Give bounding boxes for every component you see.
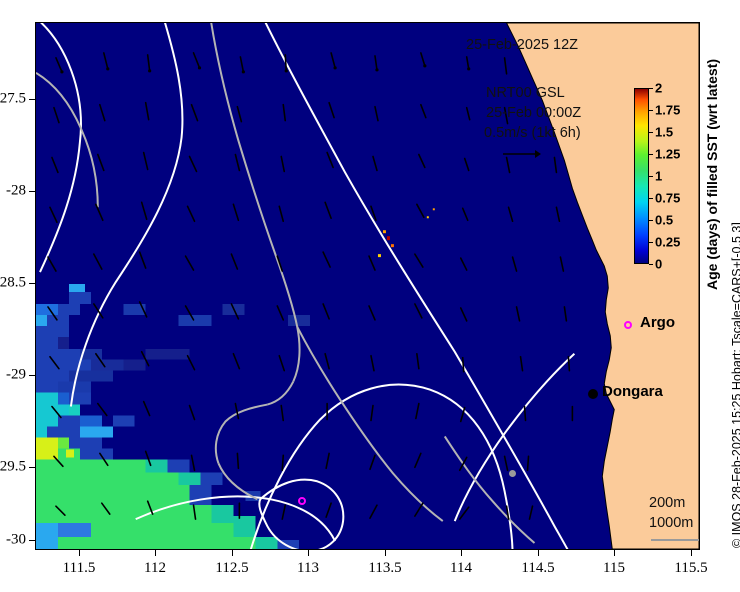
x-tick-label-7: 115 (603, 560, 625, 577)
x-tick-label-4: 113.5 (368, 560, 401, 577)
colorbar-label-7: 1.75 (655, 103, 680, 118)
x-tick-label-5: 114 (450, 560, 472, 577)
y-tick-label-5: -30 (0, 532, 26, 549)
y-tick-label-0: -27.5 (0, 91, 26, 108)
colorbar-label-1: 0.25 (655, 235, 680, 250)
x-tick-label-0: 111.5 (63, 560, 96, 577)
map-plot-area: 25-Feb-2025 12Z NRT00 GSL 25-Feb 00:00Z … (35, 22, 700, 550)
x-tick-label-1: 112 (144, 560, 166, 577)
colorbar-label-6: 1.5 (655, 125, 673, 140)
argo-legend-marker (624, 321, 632, 329)
depth-200m-label: 200m (649, 495, 685, 511)
velocity-reference-arrow (502, 147, 542, 161)
timestamp-label: 25-Feb-2025 12Z (466, 37, 578, 53)
colorbar-label-0: 0 (655, 257, 662, 272)
product-line-2: 0.5m/s (1kt 6h) (484, 125, 581, 141)
argo-float-marker (298, 497, 306, 505)
colorbar-label-3: 0.75 (655, 191, 680, 206)
colorbar-title: Age (days) of filled SST (wrt latest) (704, 59, 720, 290)
y-tick-label-2: -28.5 (0, 275, 26, 292)
depth-legend-rule (651, 539, 700, 541)
colorbar-label-4: 1 (655, 169, 662, 184)
argo-legend-label: Argo (640, 314, 675, 331)
x-tick-label-3: 113 (297, 560, 319, 577)
colorbar-gradient (634, 88, 649, 264)
y-tick-label-1: -28 (0, 183, 26, 200)
y-tick-label-4: -29.5 (0, 459, 26, 476)
dongara-city-marker (588, 389, 598, 399)
sst-age-raster (36, 23, 699, 549)
depth-1000m-label: 1000m (649, 515, 693, 531)
x-tick-label-6: 114.5 (521, 560, 554, 577)
dongara-label: Dongara (602, 383, 663, 400)
colorbar-label-8: 2 (655, 81, 662, 96)
product-line-0: NRT00 GSL (486, 85, 565, 101)
station-marker (509, 470, 516, 477)
x-tick-label-2: 112.5 (215, 560, 248, 577)
credit-text: © IMOS 28-Feb-2025 15:25 Hobart; Tscale=… (730, 222, 740, 548)
product-line-1: 25-Feb 00:00Z (486, 105, 581, 121)
y-tick-label-3: -29 (0, 367, 26, 384)
x-tick-label-8: 115.5 (674, 560, 707, 577)
colorbar-label-5: 1.25 (655, 147, 680, 162)
colorbar-label-2: 0.5 (655, 213, 673, 228)
